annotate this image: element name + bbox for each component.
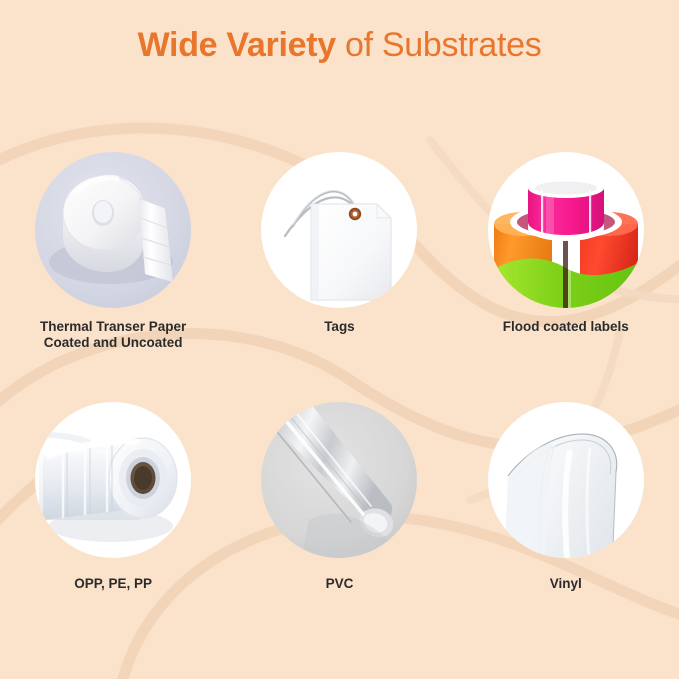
substrate-caption: Thermal Transer Paper Coated and Uncoate… — [40, 319, 186, 352]
plastic-film-roll-photo — [33, 400, 193, 560]
paper-tag-with-string-photo — [259, 150, 419, 310]
clear-vinyl-sheet-photo — [486, 400, 646, 560]
clear-pvc-sheet-photo — [259, 400, 419, 560]
page-title-strong: Wide Variety — [138, 26, 336, 64]
substrate-item-pvc[interactable]: PVC — [226, 400, 452, 592]
substrate-grid: Thermal Transer Paper Coated and Uncoate… — [0, 150, 679, 592]
poster-page: Wide Variety of Substrates — [0, 0, 679, 679]
page-title-light: of Substrates — [336, 26, 542, 64]
page-title: Wide Variety of Substrates — [0, 26, 679, 65]
substrate-row-1: Thermal Transer Paper Coated and Uncoate… — [0, 150, 679, 352]
substrate-caption: PVC — [326, 576, 354, 592]
substrate-item-opp-pe-pp[interactable]: OPP, PE, PP — [0, 400, 226, 592]
fluorescent-label-rolls-photo — [486, 150, 646, 310]
thermal-label-roll-photo — [33, 150, 193, 310]
substrate-caption: Flood coated labels — [503, 319, 629, 335]
substrate-caption: Vinyl — [550, 576, 582, 592]
substrate-item-thermal-transfer-paper[interactable]: Thermal Transer Paper Coated and Uncoate… — [0, 150, 226, 352]
substrate-row-2: OPP, PE, PP — [0, 400, 679, 592]
substrate-caption: Tags — [324, 319, 355, 335]
substrate-caption: OPP, PE, PP — [74, 576, 152, 592]
substrate-item-vinyl[interactable]: Vinyl — [453, 400, 679, 592]
substrate-item-tags[interactable]: Tags — [226, 150, 452, 352]
substrate-item-flood-coated-labels[interactable]: Flood coated labels — [453, 150, 679, 352]
